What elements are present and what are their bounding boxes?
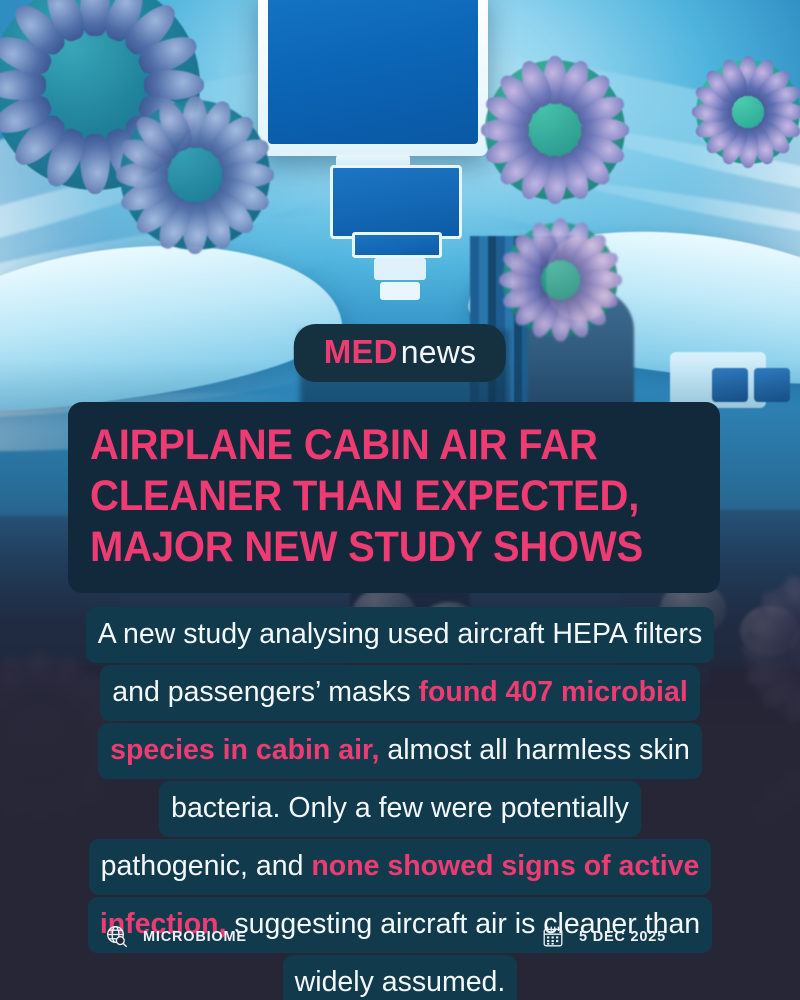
headline-block: AIRPLANE CABIN AIR FAR CLEANER THAN EXPE… — [68, 402, 720, 593]
body-text: widely assumed. — [295, 966, 506, 998]
body-line: bacteria. Only a few were potentially — [159, 781, 641, 837]
body-text: bacteria. Only a few were potentially — [171, 792, 629, 824]
body-line: A new study analysing used aircraft HEPA… — [86, 607, 715, 663]
body-text: almost all harmless skin — [379, 734, 689, 766]
headline-line: CLEANER THAN EXPECTED, — [90, 471, 655, 522]
body-line: species in cabin air, almost all harmles… — [98, 723, 702, 779]
body-highlight: species in cabin air, — [110, 734, 379, 766]
body-line: and passengers’ masks found 407 microbia… — [100, 665, 700, 721]
brand-logo-med: MED — [324, 333, 398, 371]
body-text: A new study analysing used aircraft HEPA… — [98, 618, 703, 650]
body-highlight: none showed signs of active — [311, 850, 699, 882]
headline-line: AIRPLANE CABIN AIR FAR — [90, 420, 655, 471]
footer-meta: MICROBIOME — [0, 924, 800, 968]
headline-line: MAJOR NEW STUDY SHOWS — [90, 522, 655, 573]
footer-category-label: MICROBIOME — [143, 929, 247, 945]
footer-date[interactable]: 5 DEC 2025 — [540, 924, 666, 950]
body-text: pathogenic, and — [101, 850, 312, 882]
body-text: and passengers’ masks — [112, 676, 418, 708]
brand-logo[interactable]: MED news — [294, 324, 506, 382]
calendar-icon — [540, 924, 566, 950]
poster-content: MED news AIRPLANE CABIN AIR FAR CLEANER … — [0, 0, 800, 1000]
footer-date-label: 5 DEC 2025 — [579, 929, 666, 945]
news-card-poster: MED news AIRPLANE CABIN AIR FAR CLEANER … — [0, 0, 800, 1000]
brand-logo-news: news — [401, 334, 477, 371]
body-highlight: found 407 microbial — [419, 676, 688, 708]
footer-category[interactable]: MICROBIOME — [104, 924, 247, 950]
globe-search-icon — [104, 924, 130, 950]
body-line: pathogenic, and none showed signs of act… — [89, 839, 712, 895]
